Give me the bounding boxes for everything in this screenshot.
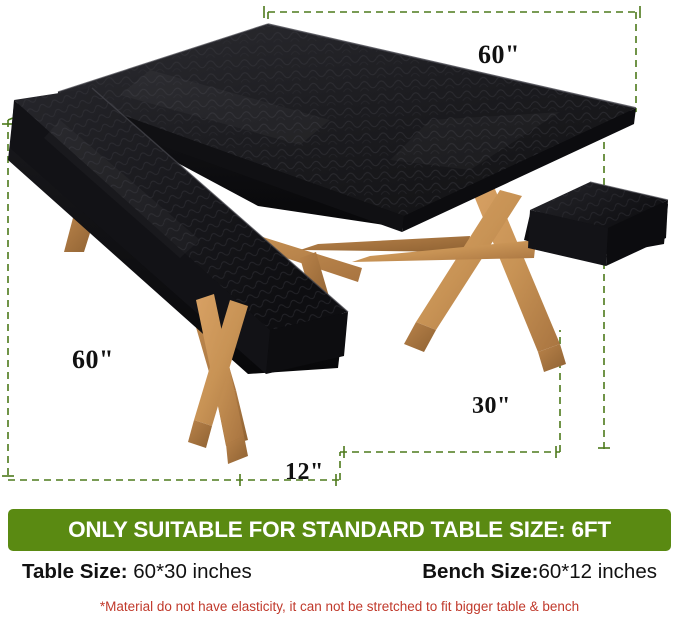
dimension-label-left: 60" bbox=[72, 345, 114, 375]
compatibility-banner: ONLY SUITABLE FOR STANDARD TABLE SIZE: 6… bbox=[8, 509, 671, 551]
banner-text: ONLY SUITABLE FOR STANDARD TABLE SIZE: 6… bbox=[68, 517, 611, 543]
bench-size-value: 60*12 inches bbox=[538, 560, 657, 583]
table-size-value: 60*30 inches bbox=[128, 560, 252, 583]
dimension-label-table-depth: 30" bbox=[472, 393, 511, 420]
bench-size-spec: Bench Size:60*12 inches bbox=[422, 560, 657, 584]
elasticity-footnote: *Material do not have elasticity, it can… bbox=[0, 599, 679, 614]
table-size-spec: Table Size: 60*30 inches bbox=[22, 560, 252, 584]
dimension-label-bench-depth: 12" bbox=[285, 459, 324, 486]
bench-size-label: Bench Size: bbox=[422, 560, 538, 583]
dimension-label-top: 60" bbox=[478, 40, 520, 70]
product-photo bbox=[0, 0, 679, 500]
size-specs-row: Table Size: 60*30 inches Bench Size:60*1… bbox=[0, 560, 679, 584]
table-size-label: Table Size: bbox=[22, 560, 128, 583]
